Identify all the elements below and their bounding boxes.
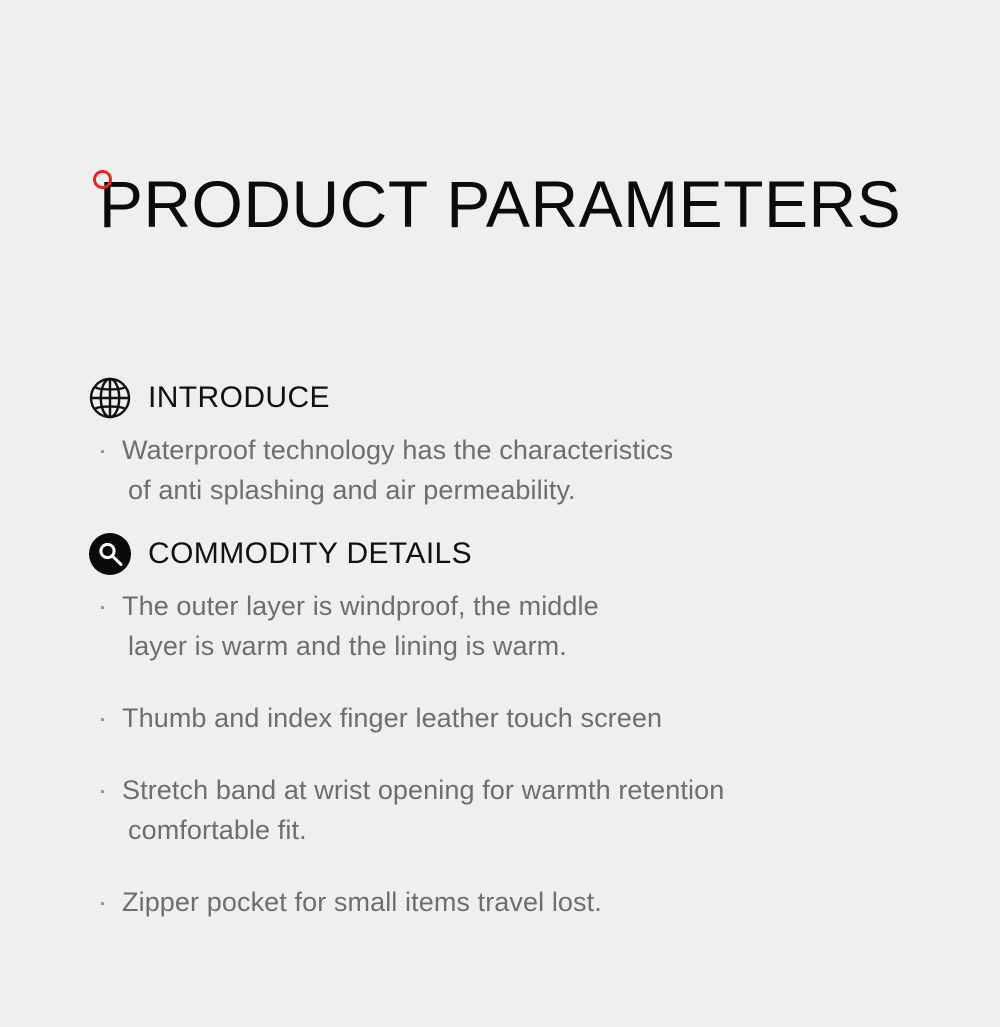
section-introduce: INTRODUCE · Waterproof technology has th… — [88, 376, 948, 510]
page-title: PRODUCT PARAMETERS — [99, 168, 901, 240]
bullet-marker: · — [98, 586, 107, 626]
list-item: · Waterproof technology has the characte… — [88, 430, 948, 510]
bullet-list-introduce: · Waterproof technology has the characte… — [88, 430, 948, 510]
product-parameters-page: PRODUCT PARAMETERS INTRODUCE — [0, 0, 1000, 1027]
section-header-introduce: INTRODUCE — [88, 376, 948, 420]
page-title-inner: PRODUCT PARAMETERS — [99, 168, 901, 240]
section-title-introduce: INTRODUCE — [148, 381, 330, 415]
content-area: INTRODUCE · Waterproof technology has th… — [88, 376, 948, 922]
red-circle-marker-icon — [93, 170, 112, 189]
bullet-line: Waterproof technology has the characteri… — [122, 430, 948, 470]
bullet-marker: · — [98, 770, 107, 810]
list-item: · The outer layer is windproof, the midd… — [88, 586, 948, 666]
bullet-line: Thumb and index finger leather touch scr… — [122, 698, 948, 738]
bullet-line: The outer layer is windproof, the middle — [122, 586, 948, 626]
section-title-commodity-details: COMMODITY DETAILS — [148, 537, 472, 571]
globe-icon — [88, 376, 132, 420]
list-item: · Zipper pocket for small items travel l… — [88, 882, 948, 922]
bullet-line: layer is warm and the lining is warm. — [122, 626, 948, 666]
bullet-marker: · — [98, 698, 107, 738]
bullet-line: comfortable fit. — [122, 810, 948, 850]
section-header-commodity-details: COMMODITY DETAILS — [88, 532, 948, 576]
bullet-line: of anti splashing and air permeability. — [122, 470, 948, 510]
list-item: · Thumb and index finger leather touch s… — [88, 698, 948, 738]
section-commodity-details: COMMODITY DETAILS · The outer layer is w… — [88, 532, 948, 922]
bullet-marker: · — [98, 430, 107, 470]
list-item: · Stretch band at wrist opening for warm… — [88, 770, 948, 850]
page-title-block: PRODUCT PARAMETERS — [0, 168, 1000, 240]
bullet-marker: · — [98, 882, 107, 922]
bullet-list-commodity-details: · The outer layer is windproof, the midd… — [88, 586, 948, 922]
bullet-line: Zipper pocket for small items travel los… — [122, 882, 948, 922]
bullet-line: Stretch band at wrist opening for warmth… — [122, 770, 948, 810]
search-circle-icon — [88, 532, 132, 576]
